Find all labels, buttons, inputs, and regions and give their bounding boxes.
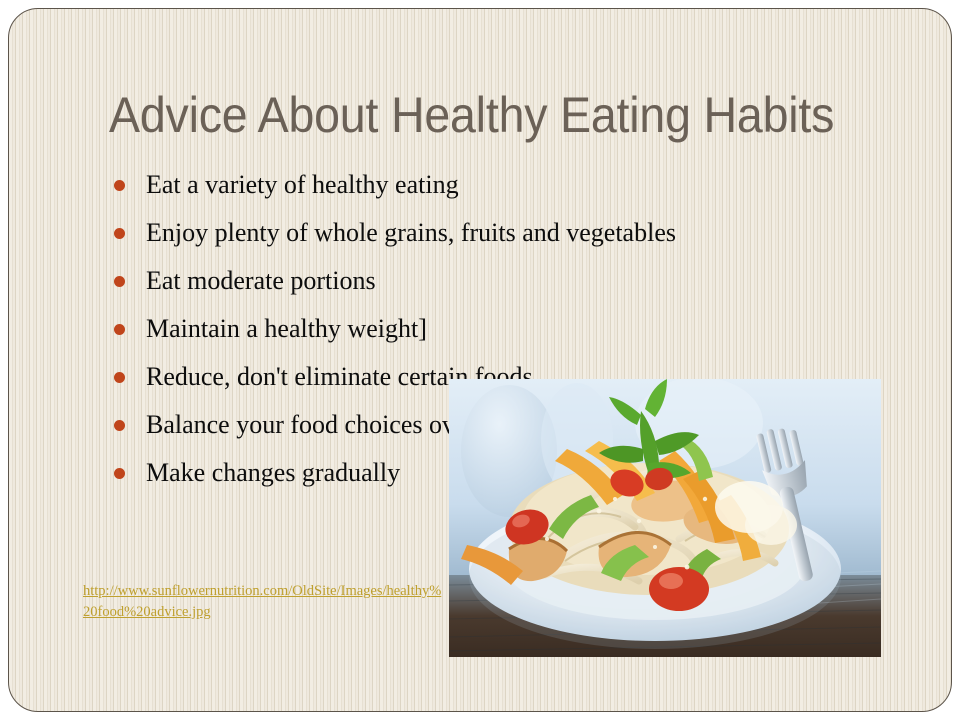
source-url-link[interactable]: http://www.sunflowernutrition.com/OldSit…	[83, 581, 443, 623]
list-item-label: Maintain a healthy weight]	[146, 315, 427, 343]
bullet-dot-icon	[114, 228, 125, 239]
list-item-label: Make changes gradually	[146, 459, 400, 487]
slide-canvas: Advice About Healthy Eating Habits Eat a…	[0, 0, 960, 720]
list-item: Eat a variety of healthy eating	[109, 161, 829, 209]
bullet-dot-icon	[114, 324, 125, 335]
bullet-dot-icon	[114, 468, 125, 479]
slide-body: Advice About Healthy Eating Habits Eat a…	[8, 8, 952, 712]
bullet-dot-icon	[114, 276, 125, 287]
bullet-dot-icon	[114, 180, 125, 191]
food-photo	[449, 379, 881, 657]
list-item: Enjoy plenty of whole grains, fruits and…	[109, 209, 829, 257]
list-item-label: Enjoy plenty of whole grains, fruits and…	[146, 219, 676, 247]
food-photo-illustration	[449, 379, 881, 657]
list-item: Eat moderate portions	[109, 257, 829, 305]
bullet-dot-icon	[114, 372, 125, 383]
list-item-label: Eat moderate portions	[146, 267, 376, 295]
list-item: Maintain a healthy weight]	[109, 305, 829, 353]
bullet-dot-icon	[114, 420, 125, 431]
list-item-label: Eat a variety of healthy eating	[146, 171, 459, 199]
page-title: Advice About Healthy Eating Habits	[109, 87, 872, 143]
